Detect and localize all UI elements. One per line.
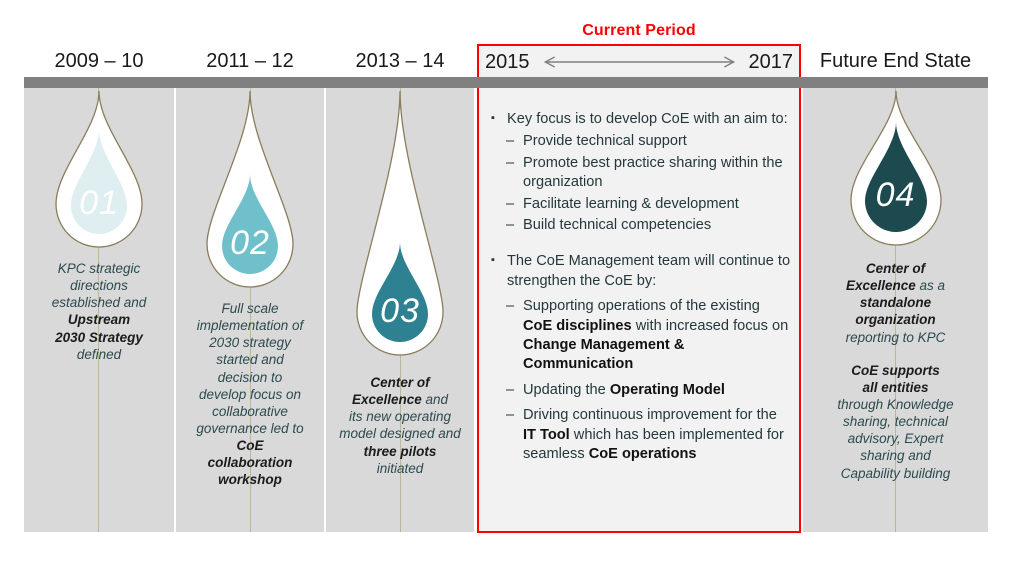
caption-line-bold: Excellence <box>846 278 916 293</box>
caption-line-bold: standalone <box>860 295 931 310</box>
caption-line: model designed and <box>339 426 461 441</box>
caption-line: and <box>422 392 448 407</box>
period-header-2009-10: 2009 – 10 <box>24 47 174 77</box>
caption-line: as a <box>916 278 945 293</box>
sub-bullet-text: Provide technical support <box>523 132 791 151</box>
square-bullet-icon <box>489 252 507 270</box>
current-period-panel: Key focus is to develop CoE with an aim … <box>477 88 801 533</box>
caption-line-bold: all entities <box>862 380 928 395</box>
caption-line: Full scale <box>221 301 278 316</box>
dash-bullet-icon <box>506 154 523 173</box>
dash-bullet-icon <box>506 132 523 151</box>
caption-line-bold: CoE supports <box>851 363 940 378</box>
sub-bullet-item: Facilitate learning & development <box>506 195 791 214</box>
column-caption-2013-14: Center of Excellence and its new operati… <box>332 374 468 477</box>
caption-line: directions <box>70 278 128 293</box>
sub-bullet-item: Driving continuous improvement for the I… <box>506 406 791 464</box>
caption-line-bold: CoE <box>237 438 264 453</box>
current-period-label: Current Period <box>477 22 801 40</box>
caption-line: initiated <box>377 461 424 476</box>
dash-bullet-icon <box>506 216 523 235</box>
period-header-future-end-state: Future End State <box>803 47 988 77</box>
caption-paragraph-2: CoE supports all entities through Knowle… <box>809 362 982 482</box>
square-bullet-icon <box>489 110 507 128</box>
caption-line: started and <box>216 352 284 367</box>
sub-bullet-text: Build technical competencies <box>523 216 791 235</box>
caption-line: sharing, technical <box>843 414 948 429</box>
caption-line: advisory, Expert <box>848 431 944 446</box>
sub-bullet-text: Updating the Operating Model <box>523 381 791 400</box>
caption-line: collaborative <box>212 404 288 419</box>
caption-line-bold: Excellence <box>352 392 422 407</box>
sub-bullet-list: Supporting operations of the existing Co… <box>489 297 791 464</box>
caption-line: its new operating <box>349 409 451 424</box>
bullet-text: The CoE Management team will continue to… <box>507 252 791 291</box>
caption-line: 2030 strategy <box>209 335 291 350</box>
bullet-item: Key focus is to develop CoE with an aim … <box>489 110 791 129</box>
sub-bullet-text: Driving continuous improvement for the I… <box>523 406 791 464</box>
column-caption-2011-12: Full scale implementation of 2030 strate… <box>182 300 318 489</box>
sub-bullet-item: Supporting operations of the existing Co… <box>506 297 791 375</box>
dash-bullet-icon <box>506 297 523 316</box>
sub-bullet-item: Updating the Operating Model <box>506 381 791 400</box>
current-period-content: Key focus is to develop CoE with an aim … <box>489 110 791 465</box>
timeline-bar <box>24 77 988 88</box>
current-period-start-year: 2015 <box>485 52 530 72</box>
caption-line-bold: 2030 Strategy <box>55 330 143 345</box>
caption-line-bold: three pilots <box>364 444 437 459</box>
sub-bullet-list: Provide technical support Promote best p… <box>489 132 791 235</box>
caption-line: sharing and <box>860 448 931 463</box>
column-caption-future-end-state: Center of Excellence as a standalone org… <box>809 260 982 482</box>
period-header-2013-14: 2013 – 14 <box>326 47 474 77</box>
sub-bullet-text: Promote best practice sharing within the… <box>523 154 791 193</box>
current-period-end-year: 2017 <box>749 52 794 72</box>
sub-bullet-item: Build technical competencies <box>506 216 791 235</box>
block-spacer <box>489 235 791 252</box>
drop-number-01: 01 <box>24 184 174 223</box>
caption-line: Capability building <box>841 466 951 481</box>
caption-line: decision to <box>218 370 283 385</box>
caption-line: develop focus on <box>199 387 301 402</box>
sub-bullet-item: Promote best practice sharing within the… <box>506 154 791 193</box>
caption-line: KPC strategic <box>58 261 141 276</box>
caption-line-bold: Upstream <box>68 312 130 327</box>
column-2013-14: 03 Center of Excellence and its new oper… <box>326 88 474 532</box>
caption-line: reporting to KPC <box>846 330 946 345</box>
caption-line-bold: collaboration <box>208 455 293 470</box>
caption-line: defined <box>77 347 121 362</box>
caption-line-bold: Center of <box>866 261 925 276</box>
sub-bullet-text: Facilitate learning & development <box>523 195 791 214</box>
column-future-end-state: 04 Center of Excellence as a standalone … <box>803 88 988 532</box>
bullet-text: Key focus is to develop CoE with an aim … <box>507 110 791 129</box>
caption-line: implementation of <box>197 318 304 333</box>
caption-line-bold: workshop <box>218 472 282 487</box>
double-arrow-icon <box>536 55 743 69</box>
dash-bullet-icon <box>506 406 523 425</box>
column-caption-2009-10: KPC strategic directions established and… <box>30 260 168 363</box>
caption-line: established and <box>52 295 147 310</box>
sub-bullet-item: Provide technical support <box>506 132 791 151</box>
teardrop-01: 01 <box>24 88 174 268</box>
period-header-2011-12: 2011 – 12 <box>176 47 324 77</box>
caption-line-bold: organization <box>855 312 935 327</box>
sub-bullet-text: Supporting operations of the existing Co… <box>523 297 791 375</box>
column-2009-10: 01 KPC strategic directions established … <box>24 88 174 532</box>
dash-bullet-icon <box>506 381 523 400</box>
caption-line: governance led to <box>196 421 303 436</box>
dash-bullet-icon <box>506 195 523 214</box>
caption-line-bold: Center of <box>370 375 429 390</box>
current-period-header-box: 2015 2017 <box>477 44 801 77</box>
column-2011-12: 02 Full scale implementation of 2030 str… <box>176 88 324 532</box>
diagram-canvas: Current Period 2009 – 10 2011 – 12 2013 … <box>0 0 1024 572</box>
caption-line: through Knowledge <box>837 397 953 412</box>
bullet-item: The CoE Management team will continue to… <box>489 252 791 291</box>
